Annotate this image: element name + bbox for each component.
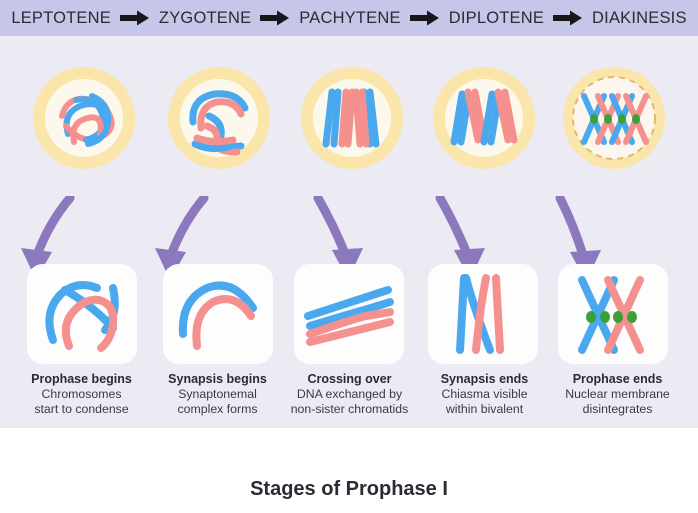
caption-line: non-sister chromatids: [277, 402, 422, 417]
caption-pachytene: Crossing over DNA exchanged by non-siste…: [277, 372, 422, 417]
header-stage-zygotene: ZYGOTENE: [159, 9, 251, 28]
header-stage-pachytene: PACHYTENE: [299, 9, 400, 28]
caption-title: Synapsis ends: [412, 372, 557, 387]
detail-card-leptotene: [27, 264, 137, 364]
caption-body: Synaptonemal complex forms: [145, 387, 290, 417]
caption-body: Nuclear membrane disintegrates: [545, 387, 690, 417]
caption-diplotene: Synapsis ends Chiasma visible within biv…: [412, 372, 557, 417]
nucleus-bivalents-icon: [290, 56, 414, 180]
caption-line: Synaptonemal: [145, 387, 290, 402]
caption-line: start to condense: [9, 402, 154, 417]
caption-title: Prophase begins: [9, 372, 154, 387]
caption-title: Synapsis begins: [145, 372, 290, 387]
right-arrow-icon: [120, 10, 150, 26]
caption-line: disintegrates: [545, 402, 690, 417]
stage-sequence-header: LEPTOTENE ZYGOTENE PACHYTENE DIPLOTENE D…: [0, 0, 698, 36]
crossed-threads-icon: [27, 264, 137, 364]
detail-card-pachytene: [294, 264, 404, 364]
caption-line: DNA exchanged by: [277, 387, 422, 402]
caption-line: complex forms: [145, 402, 290, 417]
caption-title: Crossing over: [277, 372, 422, 387]
detail-card-diplotene: [428, 264, 538, 364]
right-arrow-icon: [260, 10, 290, 26]
caption-leptotene: Prophase begins Chromosomes start to con…: [9, 372, 154, 417]
detail-card-zygotene: [163, 264, 273, 364]
caption-line: Chiasma visible: [412, 387, 557, 402]
caption-line: Chromosomes: [9, 387, 154, 402]
caption-title: Prophase ends: [545, 372, 690, 387]
crossing-over-strands-icon: [294, 264, 404, 364]
figure-title: Stages of Prophase I: [0, 478, 698, 501]
header-stage-diplotene: DIPLOTENE: [449, 9, 544, 28]
paired-curved-threads-icon: [163, 264, 273, 364]
header-stage-diakinesis: DIAKINESIS: [592, 9, 687, 28]
caption-diakinesis: Prophase ends Nuclear membrane disintegr…: [545, 372, 690, 417]
nucleus-separating-bivalents-icon: [422, 56, 546, 180]
right-arrow-icon: [553, 10, 583, 26]
caption-zygotene: Synapsis begins Synaptonemal complex for…: [145, 372, 290, 417]
detail-card-diakinesis: [558, 264, 668, 364]
nucleus-dashed-membrane-icon: [552, 56, 676, 180]
header-stage-leptotene: LEPTOTENE: [11, 9, 111, 28]
caption-body: DNA exchanged by non-sister chromatids: [277, 387, 422, 417]
nucleus-paired-threads-icon: [157, 56, 281, 180]
caption-body: Chiasma visible within bivalent: [412, 387, 557, 417]
caption-body: Chromosomes start to condense: [9, 387, 154, 417]
prophase-diagram-panel: Prophase begins Chromosomes start to con…: [0, 36, 698, 428]
caption-line: Nuclear membrane: [545, 387, 690, 402]
x-chromosomes-chiasmata-icon: [558, 264, 668, 364]
nucleus-tangled-threads-icon: [22, 56, 146, 180]
chiasma-bivalent-icon: [428, 264, 538, 364]
caption-line: within bivalent: [412, 402, 557, 417]
right-arrow-icon: [410, 10, 440, 26]
chiasma-dot-group: [586, 311, 637, 323]
